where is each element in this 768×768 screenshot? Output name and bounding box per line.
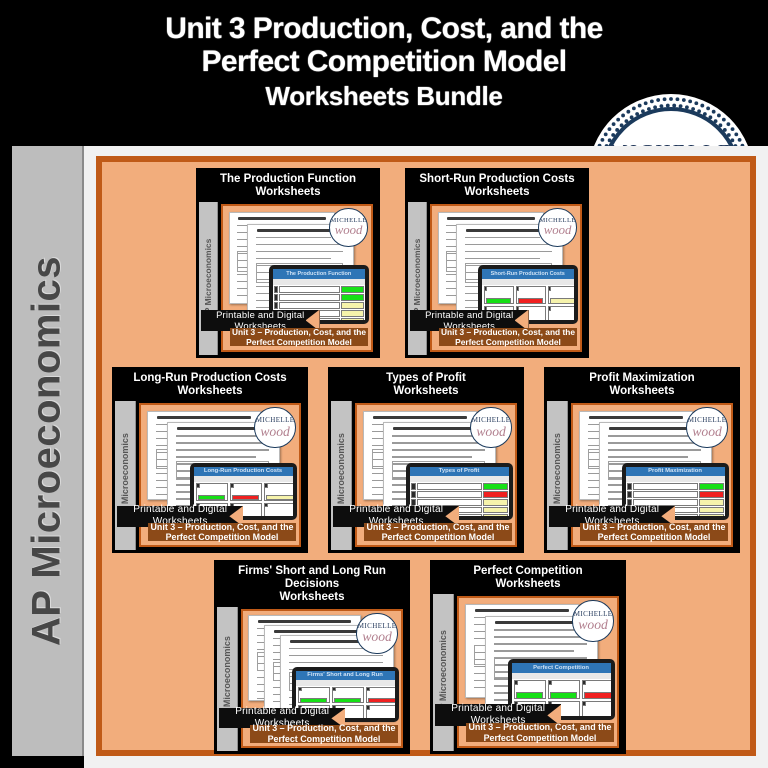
unit-banner-line-2: Perfect Competition Model (582, 532, 725, 543)
product-card[interactable]: Types of ProfitWorksheetsAP Microeconomi… (328, 367, 524, 553)
laptop-answer-cell (699, 514, 724, 516)
unit-banner-text: Unit 3 – Production, Cost, and thePerfec… (252, 723, 395, 744)
unit-banner-text: Unit 3 – Production, Cost, and thePerfec… (150, 522, 293, 543)
laptop-subheader (296, 680, 395, 686)
laptop-colored-answer (334, 698, 361, 704)
laptop-card-marker (516, 286, 520, 290)
laptop-question-cell (417, 491, 482, 498)
product-card-rail-label: AP Microeconomics (412, 238, 422, 319)
laptop-header-bar: Types of Profit (410, 467, 509, 477)
laptop-screen-title: Perfect Competition (512, 663, 611, 673)
unit-banner-line-2: Perfect Competition Model (441, 337, 575, 347)
laptop-row-marker (274, 286, 279, 293)
worksheet-text-line (608, 442, 702, 443)
unit-banner-text: Unit 3 – Production, Cost, and thePerfec… (468, 722, 611, 743)
product-card-body: AP MicroeconomicsFirms' Short and Long R… (214, 607, 410, 751)
product-card-title: Short-Run Production CostsWorksheets (405, 168, 589, 200)
laptop-colored-answer (232, 495, 259, 501)
product-card-title: Long-Run Production CostsWorksheets (112, 367, 308, 399)
product-card-logo: MICHELLEwood (329, 208, 368, 247)
laptop-colored-answer (516, 692, 543, 698)
product-card-title: Types of ProfitWorksheets (328, 367, 524, 399)
laptop-screen-title: Long-Run Production Costs (194, 467, 293, 477)
ribbon-line-1: Printable and Digital (565, 504, 659, 517)
laptop-colored-answer (266, 495, 292, 501)
product-card-rail: AP Microeconomics (547, 401, 568, 550)
product-card-logo-script: wood (362, 630, 392, 644)
worksheet-text-line (465, 258, 540, 259)
unit-banner-line-2: Perfect Competition Model (150, 532, 293, 543)
product-card[interactable]: Short-Run Production CostsWorksheetsAP M… (405, 168, 589, 358)
product-card-title: The Production FunctionWorksheets (196, 168, 380, 200)
product-card[interactable]: The Production FunctionWorksheetsAP Micr… (196, 168, 380, 358)
unit-banner-text: Unit 3 – Production, Cost, and thePerfec… (232, 327, 366, 347)
laptop-card-marker (582, 680, 586, 685)
ribbon-line-1: Printable and Digital (349, 504, 443, 517)
product-card-logo-script: wood (335, 224, 363, 237)
unit-banner-line-1: Unit 3 – Production, Cost, and the (441, 327, 575, 337)
unit-banner-line-1: Unit 3 – Production, Cost, and the (366, 522, 509, 533)
title-line-1: Unit 3 Production, Cost, and the (74, 12, 694, 45)
sidebar-subject-rail: AP Microeconomics (12, 146, 84, 756)
product-card-title-line: Worksheets (228, 591, 396, 604)
unit-banner-line-2: Perfect Competition Model (232, 337, 366, 347)
product-card-logo-script: wood (260, 425, 290, 439)
product-card-title-line: Worksheets (419, 186, 575, 199)
laptop-screen-title: Short-Run Production Costs (482, 269, 574, 279)
unit-banner: Unit 3 – Production, Cost, and thePerfec… (580, 523, 727, 541)
worksheet-text-line (256, 258, 331, 259)
unit-banner-text: Unit 3 – Production, Cost, and thePerfec… (441, 327, 575, 347)
laptop-card-marker (264, 503, 268, 507)
laptop-answer-cell (483, 483, 508, 490)
product-card[interactable]: Firms' Short and Long RunDecisionsWorksh… (214, 560, 410, 754)
worksheet-text-line (465, 237, 540, 238)
page-subtitle: Worksheets Bundle (265, 82, 502, 112)
product-card[interactable]: Perfect CompetitionWorksheetsAP Microeco… (430, 560, 626, 754)
unit-banner-line-1: Unit 3 – Production, Cost, and the (582, 522, 725, 533)
title-line-2: Perfect Competition Model (74, 45, 694, 78)
worksheet-text-line (392, 435, 472, 436)
laptop-colored-answer (486, 298, 511, 304)
product-card-body: AP MicroeconomicsThe Production Function… (196, 202, 380, 355)
worksheet-text-line (176, 456, 256, 457)
laptop-answer-card (548, 306, 574, 320)
laptop-question-cell (417, 483, 482, 490)
laptop-subheader (482, 279, 574, 285)
laptop-card-marker (548, 680, 552, 685)
unit-banner-line-1: Unit 3 – Production, Cost, and the (150, 522, 293, 533)
laptop-colored-answer (300, 698, 327, 704)
worksheet-heading-bar (157, 416, 251, 419)
worksheet-text-line (608, 449, 702, 450)
worksheet-text-line (465, 244, 553, 245)
worksheet-text-line (256, 244, 344, 245)
product-card-title-line: Types of Profit (342, 372, 510, 385)
laptop-row-marker (274, 294, 279, 301)
laptop-answer-cell (341, 318, 364, 320)
product-card-title: Firms' Short and Long RunDecisionsWorksh… (214, 560, 410, 605)
product-card-panel: Perfect CompetitionMICHELLEwoodPrintable… (457, 596, 619, 748)
product-card-title-line: Short-Run Production Costs (419, 173, 575, 186)
laptop-answer-card (582, 701, 610, 716)
unit-banner: Unit 3 – Production, Cost, and thePerfec… (230, 328, 368, 347)
worksheet-heading-bar (373, 416, 467, 419)
worksheet-text-line (392, 456, 472, 457)
product-card-rail: AP Microeconomics (115, 401, 136, 550)
laptop-screen-title: The Production Function (273, 269, 365, 279)
laptop-colored-answer (550, 298, 574, 304)
laptop-colored-answer (368, 698, 394, 704)
product-card-body: AP MicroeconomicsTypes of ProfitMICHELLE… (328, 401, 524, 550)
product-card-title: Profit MaximizationWorksheets (544, 367, 740, 399)
laptop-row-marker (411, 491, 416, 498)
product-card-logo: MICHELLEwood (254, 407, 295, 448)
product-card-logo: MICHELLEwood (686, 407, 727, 448)
laptop-question-cell (633, 491, 698, 498)
product-card-panel: Profit MaximizationMICHELLEwoodPrintable… (571, 403, 733, 547)
laptop-question-cell (279, 294, 340, 301)
product-card-panel: Long-Run Production CostsMICHELLEwoodPri… (139, 403, 301, 547)
laptop-header-bar: Long-Run Production Costs (194, 467, 293, 477)
laptop-header-bar: Firms' Short and Long Run Decisions (296, 671, 395, 680)
product-card-rail: AP Microeconomics (408, 202, 427, 355)
laptop-colored-answer (198, 495, 225, 501)
product-card-panel: The Production FunctionMICHELLEwoodPrint… (221, 204, 373, 352)
laptop-answer-cell (483, 507, 508, 514)
laptop-question-cell (633, 483, 698, 490)
laptop-row-marker (411, 483, 416, 490)
poster-canvas: Unit 3 Production, Cost, and the Perfect… (0, 0, 768, 768)
unit-banner: Unit 3 – Production, Cost, and thePerfec… (250, 725, 397, 742)
worksheet-text-line (494, 629, 574, 630)
laptop-row-marker (627, 491, 632, 498)
laptop-card-marker (582, 701, 586, 706)
product-card-logo: MICHELLEwood (572, 600, 613, 641)
laptop-subheader (626, 476, 725, 482)
worksheet-text-line (256, 251, 344, 252)
unit-banner-line-2: Perfect Competition Model (468, 733, 611, 744)
laptop-answer-cell (699, 507, 724, 514)
worksheet-text-line (608, 435, 688, 436)
unit-banner: Unit 3 – Production, Cost, and thePerfec… (439, 328, 577, 347)
laptop-answer-cell (341, 310, 364, 317)
worksheet-heading-bar (447, 217, 535, 220)
product-card-panel: Firms' Short and Long Run DecisionsMICHE… (241, 609, 403, 748)
product-card-title-line: Worksheets (342, 385, 510, 398)
laptop-card-marker (514, 680, 518, 685)
laptop-card-marker (332, 687, 336, 691)
product-card-title-line: Decisions (228, 578, 396, 591)
product-card-body: AP MicroeconomicsProfit MaximizationMICH… (544, 401, 740, 550)
product-card-logo: MICHELLEwood (538, 208, 577, 247)
worksheet-text-line (289, 648, 369, 649)
unit-banner: Unit 3 – Production, Cost, and thePerfec… (148, 523, 295, 541)
laptop-card-marker (548, 306, 552, 310)
laptop-colored-answer (550, 692, 577, 698)
worksheet-text-line (494, 650, 574, 651)
product-card-logo: MICHELLEwood (356, 613, 397, 654)
laptop-screen-title: Types of Profit (410, 467, 509, 477)
product-card-body: AP MicroeconomicsPerfect CompetitionMICH… (430, 594, 626, 751)
worksheet-text-line (289, 655, 383, 656)
product-card-body: AP MicroeconomicsShort-Run Production Co… (405, 202, 589, 355)
laptop-card-marker (366, 705, 370, 709)
product-card-title-line: Worksheets (558, 385, 726, 398)
product-card-title-line: Worksheets (444, 578, 612, 591)
product-card-rail: AP Microeconomics (331, 401, 352, 550)
product-card-body: AP MicroeconomicsLong-Run Production Cos… (112, 401, 308, 550)
laptop-question-cell (279, 286, 340, 293)
product-card-panel: Short-Run Production CostsMICHELLEwoodPr… (430, 204, 582, 352)
laptop-answer-cell (341, 294, 364, 301)
product-card-title-line: The Production Function (210, 173, 366, 186)
product-card-title-line: Perfect Competition (444, 565, 612, 578)
worksheet-heading-bar (238, 217, 326, 220)
product-card-rail: AP Microeconomics (217, 607, 238, 751)
laptop-answer-cell (483, 491, 508, 498)
ribbon-line-1: Printable and Digital (451, 703, 545, 716)
product-card-rail: AP Microeconomics (433, 594, 454, 751)
unit-banner-line-1: Unit 3 – Production, Cost, and the (468, 722, 611, 733)
laptop-colored-answer (584, 692, 610, 698)
product-card-logo-script: wood (692, 425, 722, 439)
worksheet-heading-bar (475, 609, 569, 612)
laptop-answer-cell (699, 499, 724, 506)
laptop-card-marker (548, 286, 552, 290)
worksheet-text-line (176, 449, 270, 450)
product-card-title-line: Firms' Short and Long Run (228, 565, 396, 578)
worksheet-heading-bar (589, 416, 683, 419)
worksheet-text-line (465, 251, 553, 252)
worksheet-text-line (256, 237, 331, 238)
laptop-screen-title: Profit Maximization (626, 467, 725, 477)
laptop-answer-cell (483, 499, 508, 506)
product-card-rail-label: AP Microeconomics (438, 630, 448, 716)
unit-banner: Unit 3 – Production, Cost, and thePerfec… (364, 523, 511, 541)
product-card-title-line: Worksheets (126, 385, 294, 398)
laptop-answer-cell (699, 483, 724, 490)
laptop-card-marker (264, 483, 268, 487)
laptop-answer-cell (341, 286, 364, 293)
ribbon-line-1: Printable and Digital (216, 309, 304, 321)
laptop-subheader (512, 673, 611, 679)
product-card-logo: MICHELLEwood (470, 407, 511, 448)
product-card-logo-script: wood (578, 618, 608, 632)
product-card-title-line: Profit Maximization (558, 372, 726, 385)
laptop-header-bar: Profit Maximization (626, 467, 725, 477)
product-card-logo-script: wood (476, 425, 506, 439)
laptop-answer-card (366, 705, 394, 718)
laptop-answer-card (264, 503, 292, 516)
laptop-header-bar: The Production Function (273, 269, 365, 279)
laptop-card-marker (484, 286, 488, 290)
laptop-answer-cell (341, 302, 364, 309)
worksheet-text-line (176, 435, 256, 436)
worksheet-heading-bar (258, 620, 352, 623)
product-card-rail-label: AP Microeconomics (203, 238, 213, 319)
unit-banner-text: Unit 3 – Production, Cost, and thePerfec… (366, 522, 509, 543)
laptop-card-marker (230, 483, 234, 487)
worksheet-text-line (289, 662, 383, 663)
laptop-answer-cell (699, 491, 724, 498)
sidebar-item-label: AP Microeconomics (25, 256, 70, 646)
laptop-row-marker (627, 483, 632, 490)
worksheet-text-line (392, 449, 486, 450)
laptop-header-bar: Perfect Competition (512, 663, 611, 673)
product-card[interactable]: Profit MaximizationWorksheetsAP Microeco… (544, 367, 740, 553)
worksheet-text-line (608, 456, 688, 457)
product-card-rail: AP Microeconomics (199, 202, 218, 355)
worksheet-heading-bar (274, 630, 368, 633)
laptop-card-marker (196, 483, 200, 487)
product-card-logo-script: wood (544, 224, 572, 237)
worksheet-text-line (494, 636, 588, 637)
laptop-card-marker (366, 687, 370, 691)
laptop-header-bar: Short-Run Production Costs (482, 269, 574, 279)
product-card[interactable]: Long-Run Production CostsWorksheetsAP Mi… (112, 367, 308, 553)
product-card-panel: Types of ProfitMICHELLEwoodPrintable and… (355, 403, 517, 547)
product-card-title: Perfect CompetitionWorksheets (430, 560, 626, 592)
unit-banner-line-2: Perfect Competition Model (252, 734, 395, 745)
laptop-colored-answer (518, 298, 543, 304)
worksheet-text-line (392, 442, 486, 443)
laptop-subheader (410, 476, 509, 482)
laptop-subheader (194, 476, 293, 482)
unit-banner: Unit 3 – Production, Cost, and thePerfec… (466, 723, 613, 742)
laptop-subheader (273, 279, 365, 285)
unit-banner-line-2: Perfect Competition Model (366, 532, 509, 543)
product-card-title-line: Long-Run Production Costs (126, 372, 294, 385)
ribbon-line-1: Printable and Digital (133, 504, 227, 517)
ribbon-line-1: Printable and Digital (235, 706, 329, 719)
worksheet-text-line (494, 643, 588, 644)
ribbon-line-1: Printable and Digital (425, 309, 513, 321)
unit-banner-line-1: Unit 3 – Production, Cost, and the (252, 723, 395, 734)
unit-banner-text: Unit 3 – Production, Cost, and thePerfec… (582, 522, 725, 543)
page-title: Unit 3 Production, Cost, and the Perfect… (74, 12, 694, 78)
unit-banner-line-1: Unit 3 – Production, Cost, and the (232, 327, 366, 337)
worksheet-text-line (176, 442, 270, 443)
product-card-title-line: Worksheets (210, 186, 366, 199)
laptop-card-marker (298, 687, 302, 691)
laptop-answer-cell (483, 514, 508, 516)
